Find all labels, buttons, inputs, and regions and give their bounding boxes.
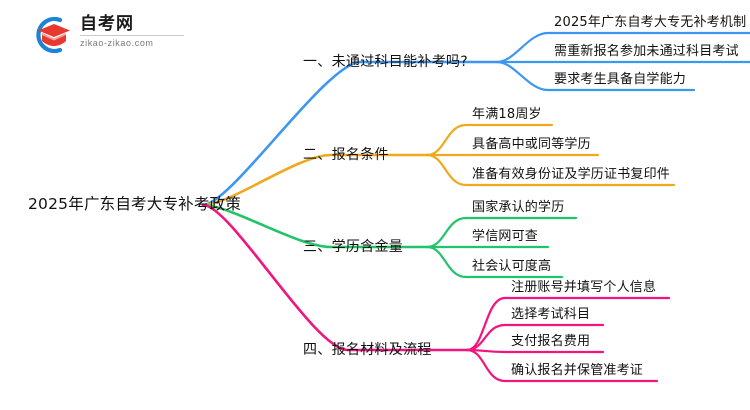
mindmap-leaf-label[interactable]: 国家承认的学历 <box>472 201 564 214</box>
mindmap-branch-label[interactable]: 四、报名材料及流程 <box>303 343 432 357</box>
mindmap-leaf-label[interactable]: 年满18周岁 <box>472 108 542 121</box>
logo-text-block: 自考网 zikao-zikao.com <box>80 14 190 48</box>
mindmap-leaf-label[interactable]: 具备高中或同等学历 <box>472 138 591 151</box>
mindmap-leaf-label[interactable]: 确认报名并保管准考证 <box>511 364 643 377</box>
mindmap-leaf-label[interactable]: 要求考生具备自学能力 <box>554 73 686 86</box>
mindmap-leaf-label[interactable]: 注册账号并填写个人信息 <box>511 281 656 294</box>
mindmap-leaf-label[interactable]: 2025年广东自考大专无补考机制 <box>554 16 746 29</box>
mindmap-canvas: 自考网 zikao-zikao.com 2025年广东自考大专补考政策 一、未通… <box>0 0 750 410</box>
site-logo[interactable]: 自考网 zikao-zikao.com <box>30 12 190 58</box>
mindmap-leaf-label[interactable]: 选择考试科目 <box>511 308 590 321</box>
mindmap-leaf-label[interactable]: 学信网可查 <box>472 230 538 243</box>
logo-divider <box>80 35 184 36</box>
mindmap-root-node[interactable]: 2025年广东自考大专补考政策 <box>28 197 241 213</box>
mindmap-branch-label[interactable]: 一、未通过科目能补考吗? <box>303 55 468 69</box>
mindmap-leaf-label[interactable]: 准备有效身份证及学历证书复印件 <box>472 168 670 181</box>
logo-name: 自考网 <box>80 14 190 34</box>
mindmap-branch-label[interactable]: 二、报名条件 <box>303 148 389 162</box>
mindmap-leaf-label[interactable]: 需重新报名参加未通过科目考试 <box>554 45 739 58</box>
mindmap-branch-label[interactable]: 三、学历含金量 <box>303 240 403 254</box>
logo-url: zikao-zikao.com <box>80 38 190 48</box>
graduation-cap-icon <box>30 14 74 56</box>
mindmap-leaf-label[interactable]: 支付报名费用 <box>511 335 590 348</box>
mindmap-leaf-label[interactable]: 社会认可度高 <box>472 260 551 273</box>
